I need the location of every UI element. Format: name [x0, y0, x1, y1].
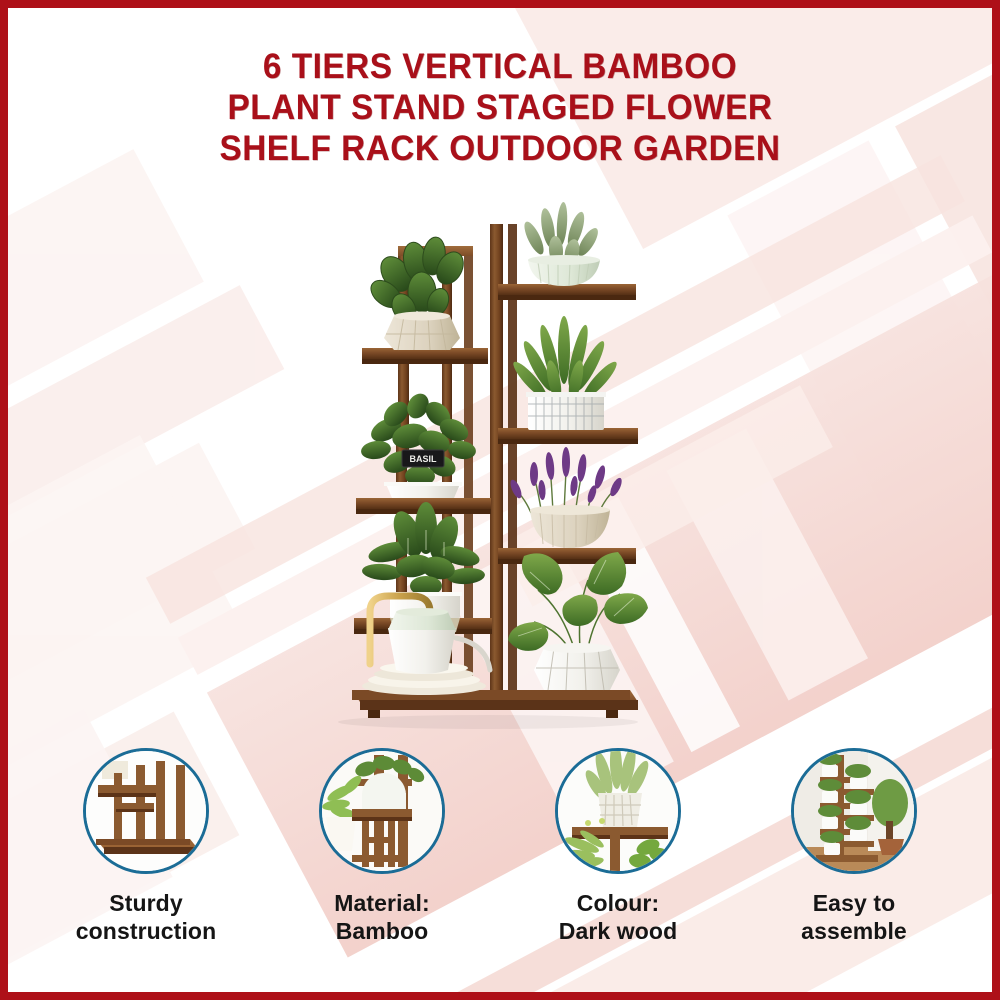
shelf-left-2 — [362, 348, 488, 364]
feature-label-line1: Sturdy — [76, 889, 216, 917]
plant-stand-illustration: BASIL — [338, 198, 678, 738]
feature-label-line2: Bamboo — [334, 917, 429, 945]
basil-tag-text: BASIL — [410, 454, 438, 464]
dark-wood-icon — [555, 748, 681, 874]
feature-label-line2: construction — [76, 917, 216, 945]
striped-pot — [528, 394, 604, 430]
feature-label-material-bamboo: Material: Bamboo — [334, 889, 429, 945]
feature-item-sturdy-construction: Sturdy construction — [28, 748, 264, 968]
feature-label-line2: assemble — [801, 917, 907, 945]
faceted-pot — [534, 648, 620, 690]
assembled-rack-icon — [791, 748, 917, 874]
feature-label-easy-to-assemble: Easy to assemble — [801, 889, 907, 945]
product-image: BASIL — [338, 198, 678, 738]
plant-basil: BASIL — [360, 390, 477, 498]
title-line-3: SHELF RACK OUTDOOR GARDEN — [118, 128, 882, 169]
title-line-2: PLANT STAND STAGED FLOWER — [118, 87, 882, 128]
plant-cactus — [366, 236, 469, 350]
plant-aloe — [509, 316, 620, 430]
base-platform — [352, 690, 638, 718]
feature-list: Sturdy construction — [28, 748, 972, 968]
feature-label-colour-dark-wood: Colour: Dark wood — [559, 889, 677, 945]
sturdy-frame-icon — [83, 748, 209, 874]
feature-label-line2: Dark wood — [559, 917, 677, 945]
shelf-right-3 — [498, 428, 638, 444]
basil-pot — [386, 484, 460, 498]
feature-item-colour-dark-wood: Colour: Dark wood — [500, 748, 736, 968]
plant-lavender — [508, 447, 624, 548]
plant-monstera — [508, 552, 648, 690]
feature-item-easy-to-assemble: Easy to assemble — [736, 748, 972, 968]
title-line-1: 6 TIERS VERTICAL BAMBOO — [118, 46, 882, 87]
plant-succulent-bowl — [521, 202, 602, 286]
page-title: 6 TIERS VERTICAL BAMBOO PLANT STAND STAG… — [8, 46, 992, 169]
basil-tag: BASIL — [402, 450, 444, 467]
feature-label-sturdy-construction: Sturdy construction — [76, 889, 216, 945]
can-body — [388, 628, 456, 674]
geometric-pot — [384, 316, 460, 350]
shelf-right-1 — [498, 284, 636, 300]
bamboo-material-icon — [319, 748, 445, 874]
feature-label-line1: Easy to — [801, 889, 907, 917]
feature-item-material-bamboo: Material: Bamboo — [264, 748, 500, 968]
product-banner: 6 TIERS VERTICAL BAMBOO PLANT STAND STAG… — [0, 0, 1000, 1000]
feature-label-line1: Colour: — [559, 889, 677, 917]
feature-label-line1: Material: — [334, 889, 429, 917]
